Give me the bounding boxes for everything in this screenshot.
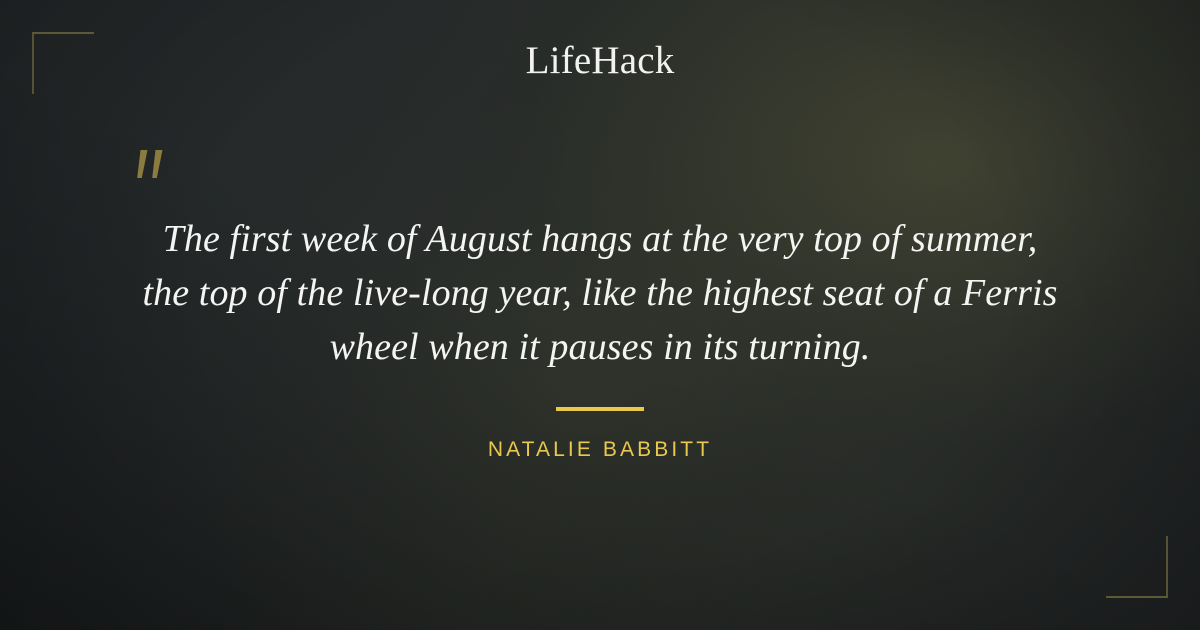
quote-line: The first week of August hangs at the ve… [95,212,1105,266]
quote-author: NATALIE BABBITT [0,438,1200,462]
quote-line: wheel when it pauses in its turning. [95,320,1105,374]
corner-bracket-bottom-right [1106,536,1168,598]
gold-divider [556,407,644,411]
double-quote-icon [128,148,174,196]
lifehack-logo: LifeHack [0,38,1200,83]
quote-card: LifeHack The first week of August hangs … [0,0,1200,630]
quote-text: The first week of August hangs at the ve… [95,212,1105,374]
quote-line: the top of the live-long year, like the … [95,266,1105,320]
